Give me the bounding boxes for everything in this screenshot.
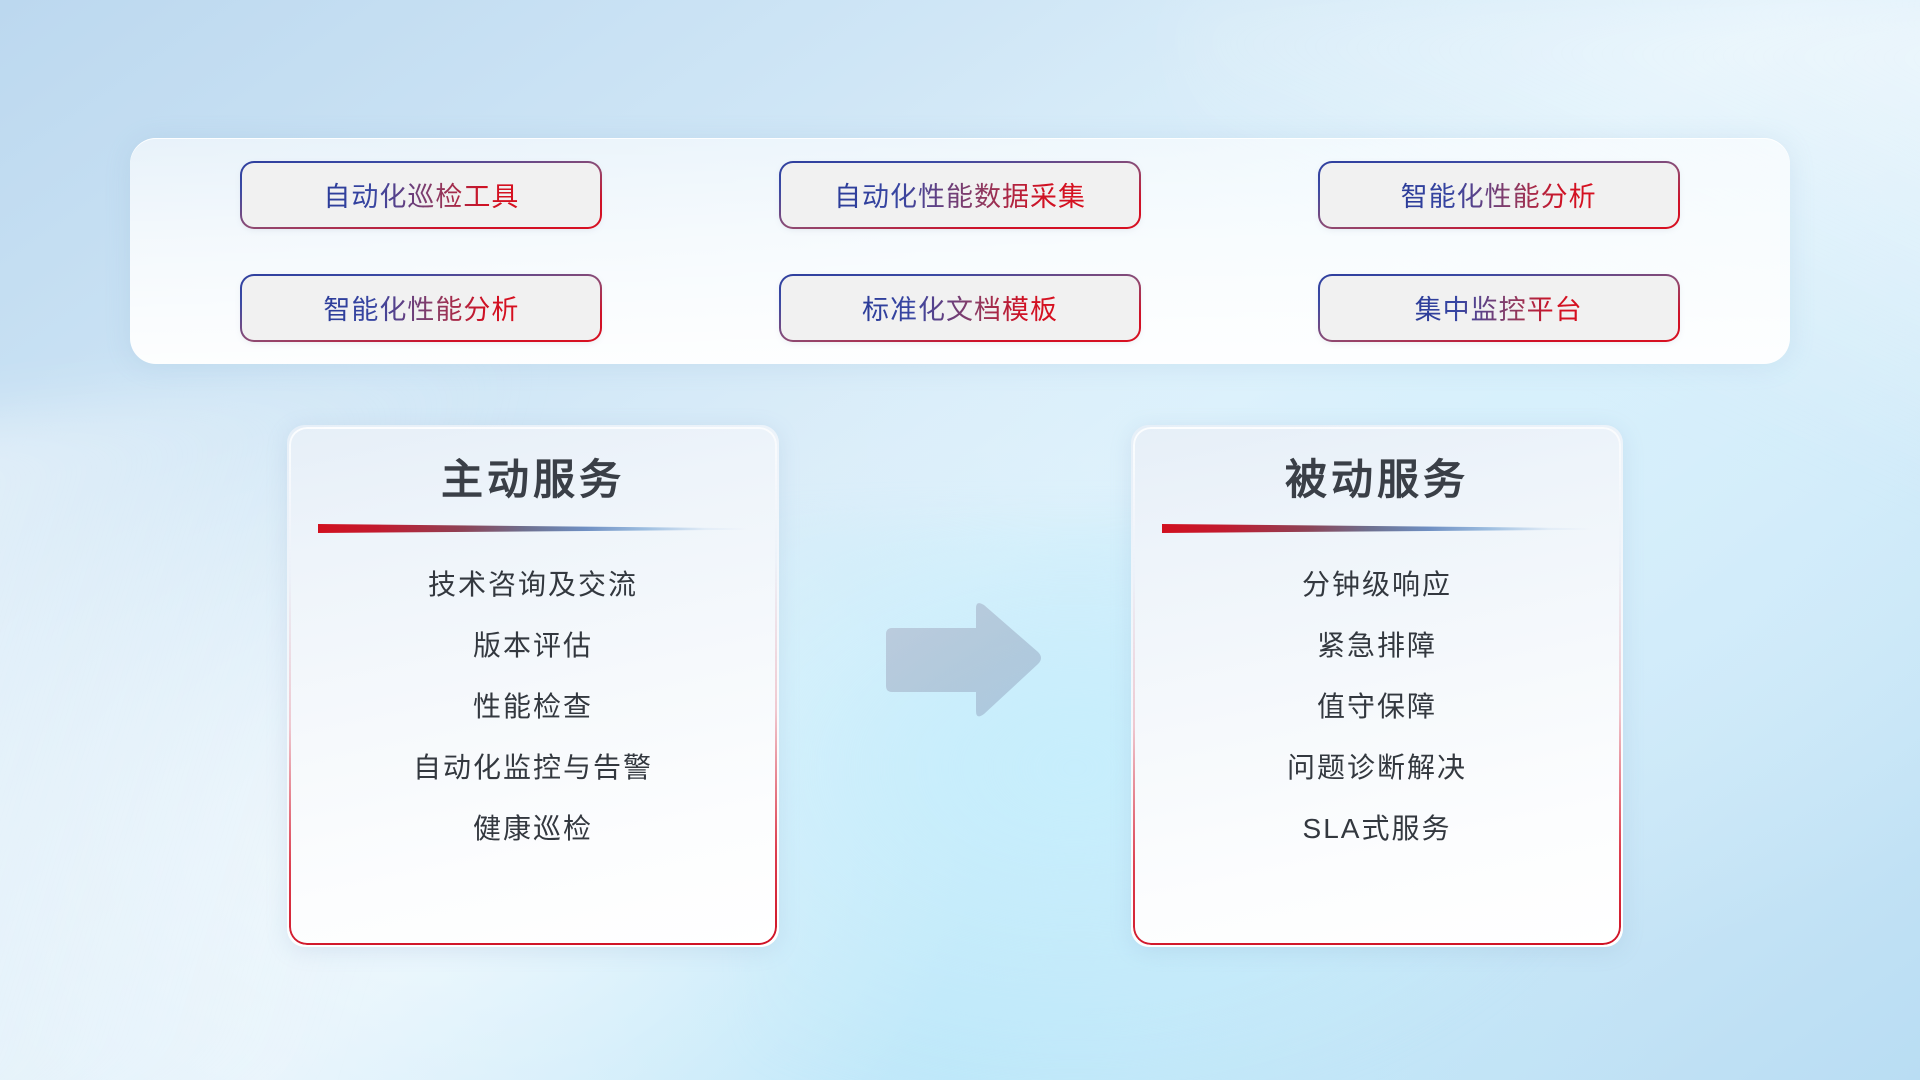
card-divider — [318, 523, 748, 533]
list-item: 版本评估 — [473, 628, 593, 663]
list-item: 分钟级响应 — [1302, 567, 1452, 602]
capability-tag-6[interactable]: 集中监控平台 — [1320, 276, 1678, 340]
list-item: 性能检查 — [473, 689, 593, 724]
list-item: 值守保障 — [1317, 689, 1437, 724]
capability-tag-2[interactable]: 自动化性能数据采集 — [781, 163, 1139, 227]
capability-tag-label: 智能化性能分析 — [323, 288, 519, 327]
card-divider — [1162, 523, 1592, 533]
card-title: 被动服务 — [1285, 455, 1469, 505]
capability-tag-label: 自动化巡检工具 — [323, 175, 519, 214]
service-card-proactive: 主动服务 技术咨询及交流 版本评估 性能检查 自动化监控与告警 健康巡检 — [287, 425, 779, 947]
list-item: 问题诊断解决 — [1287, 750, 1467, 785]
card-item-list: 技术咨询及交流 版本评估 性能检查 自动化监控与告警 健康巡检 — [289, 567, 777, 846]
list-item: 健康巡检 — [473, 811, 593, 846]
capability-tag-label: 集中监控平台 — [1415, 288, 1583, 327]
capability-tag-label: 智能化性能分析 — [1401, 175, 1597, 214]
capability-tag-label: 自动化性能数据采集 — [834, 175, 1086, 214]
capability-tag-3[interactable]: 智能化性能分析 — [1320, 163, 1678, 227]
list-item: SLA式服务 — [1303, 811, 1452, 846]
list-item: 紧急排障 — [1317, 628, 1437, 663]
card-item-list: 分钟级响应 紧急排障 值守保障 问题诊断解决 SLA式服务 — [1133, 567, 1621, 846]
card-title: 主动服务 — [441, 455, 625, 505]
capability-tag-label: 标准化文档模板 — [862, 288, 1058, 327]
list-item: 技术咨询及交流 — [428, 567, 638, 602]
capability-tag-1[interactable]: 自动化巡检工具 — [242, 163, 600, 227]
right-arrow-icon — [880, 600, 1044, 722]
list-item: 自动化监控与告警 — [413, 750, 653, 785]
capability-tag-5[interactable]: 标准化文档模板 — [781, 276, 1139, 340]
capability-tag-4[interactable]: 智能化性能分析 — [242, 276, 600, 340]
service-card-reactive: 被动服务 分钟级响应 紧急排障 值守保障 问题诊断解决 SLA式服务 — [1131, 425, 1623, 947]
capability-tags-panel: 自动化巡检工具 自动化性能数据采集 智能化性能分析 智能化性能分析 标准化文档模… — [130, 138, 1790, 364]
